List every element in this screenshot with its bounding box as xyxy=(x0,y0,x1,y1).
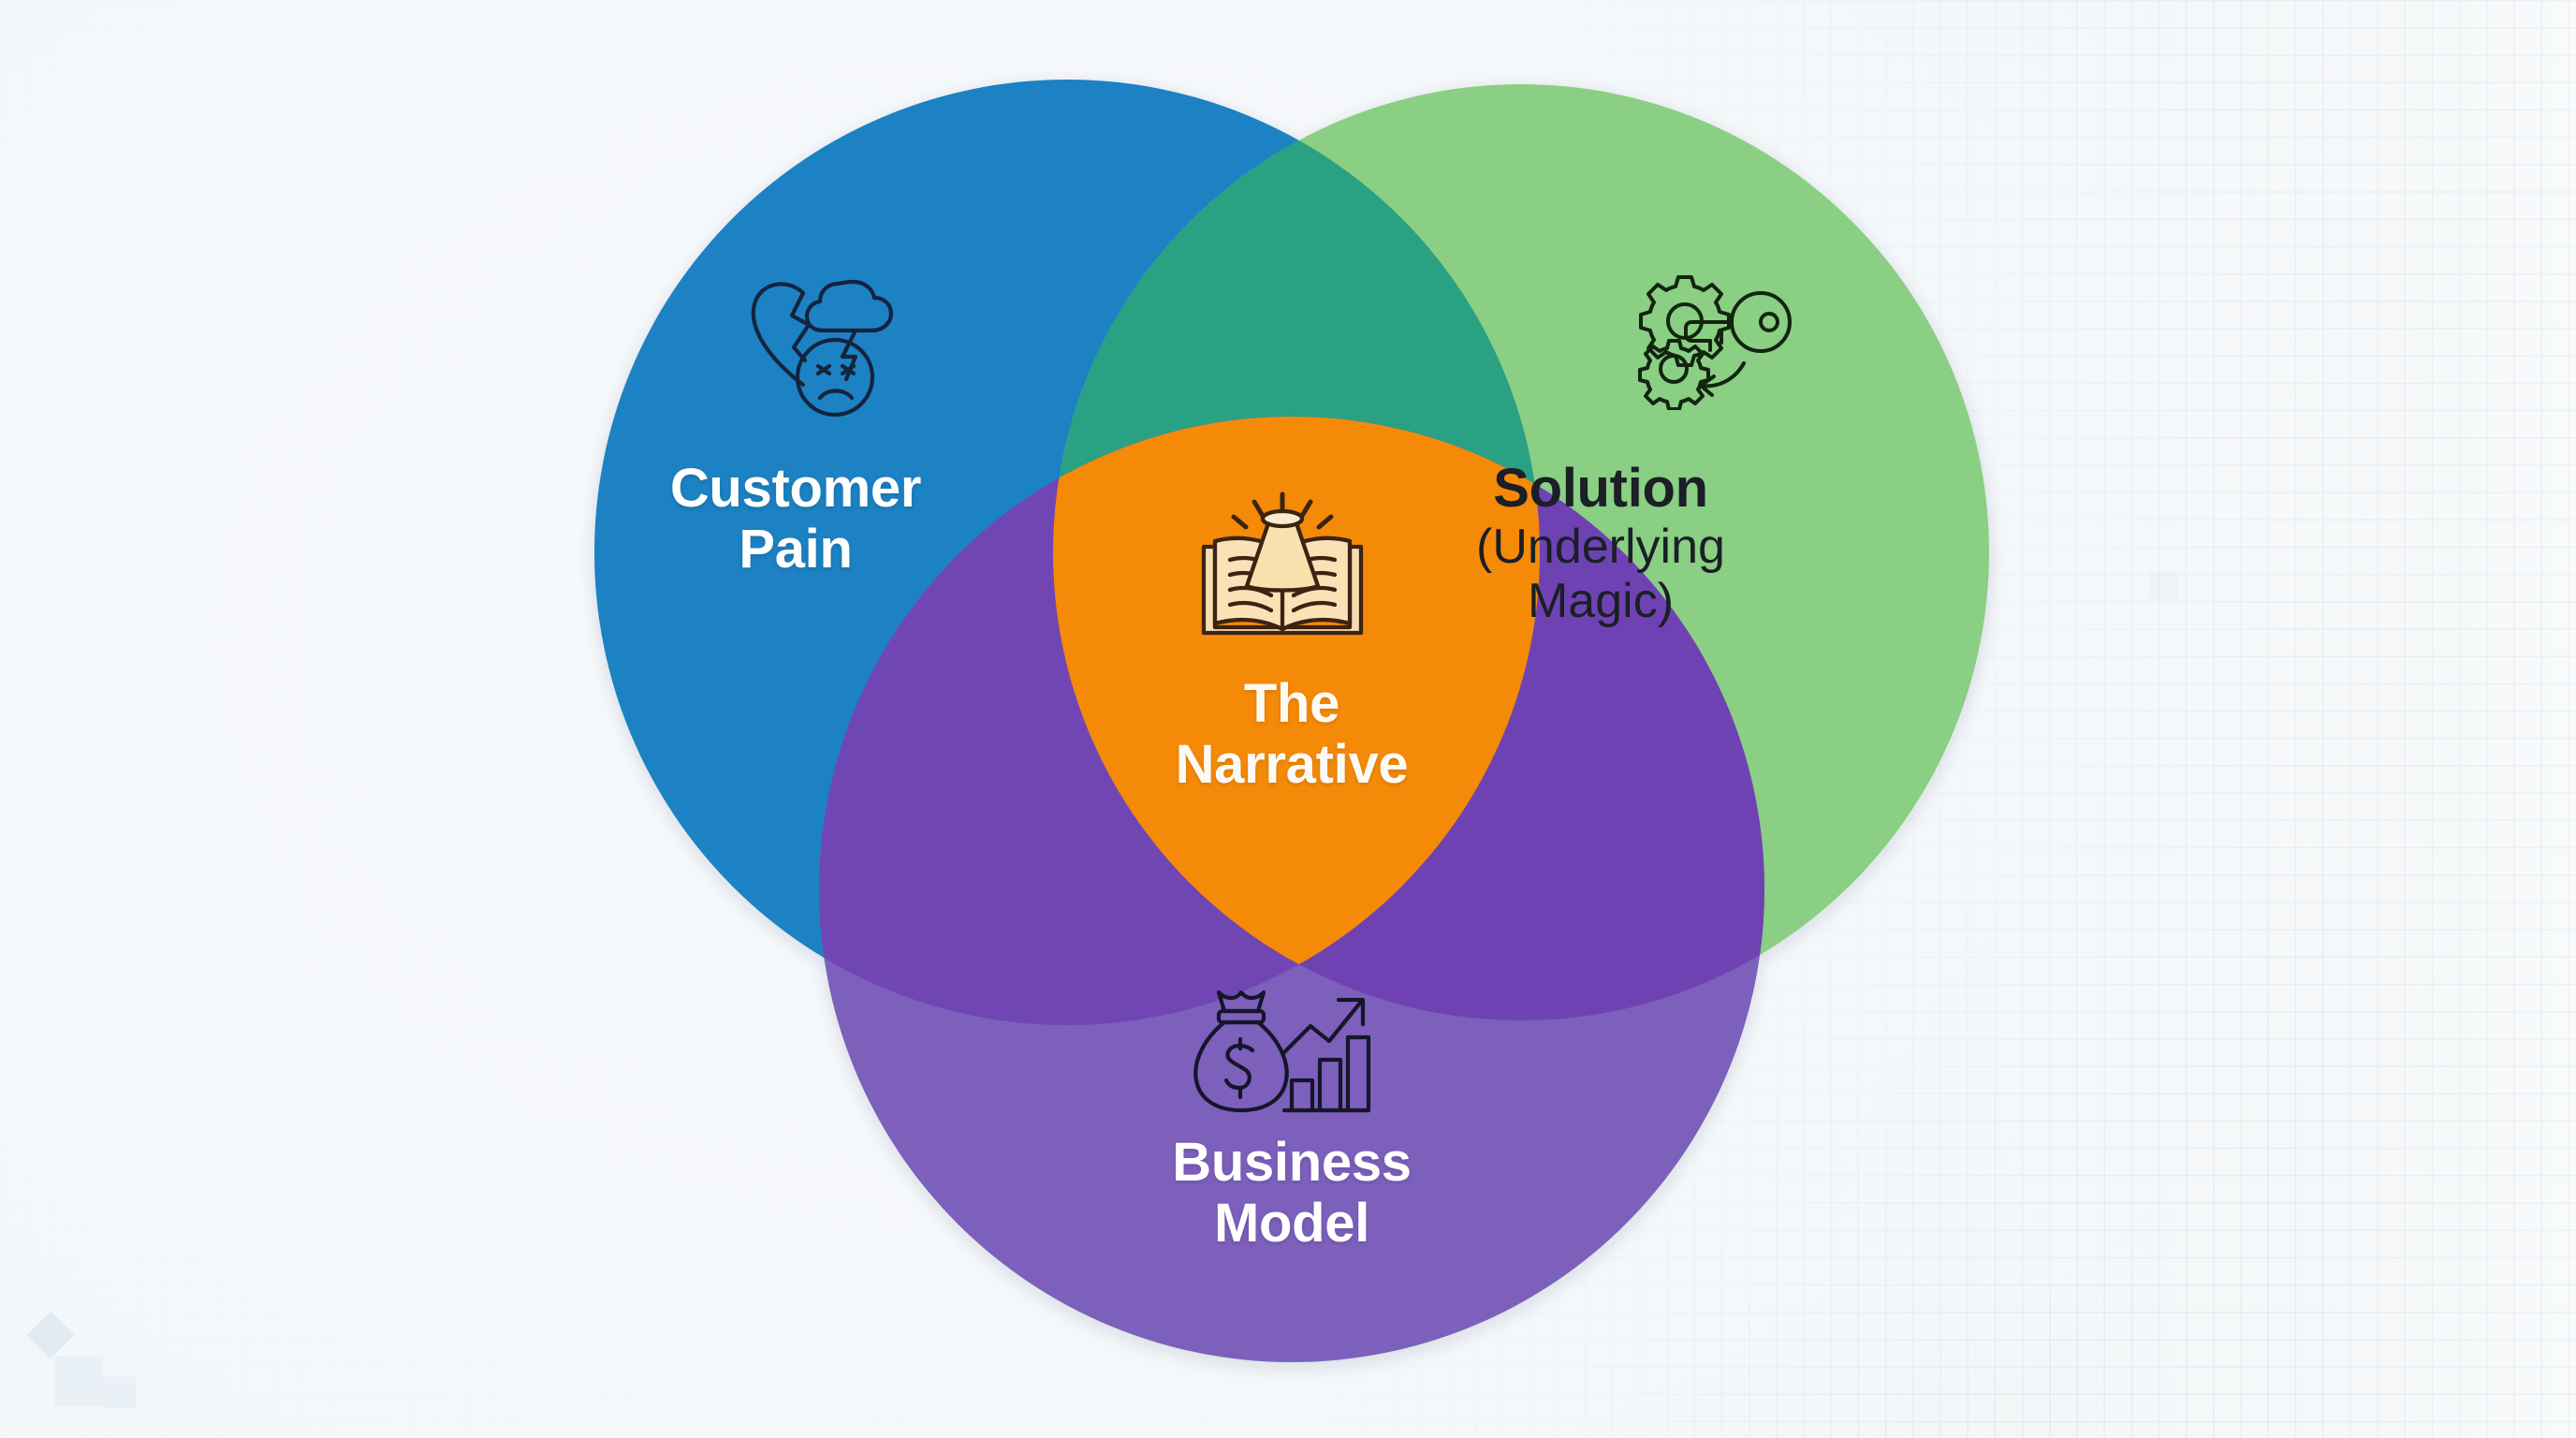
venn-diagram-canvas: Customer Pain Solution (Underlying Magic… xyxy=(0,0,2576,1438)
venn-circles-svg xyxy=(0,0,2576,1438)
